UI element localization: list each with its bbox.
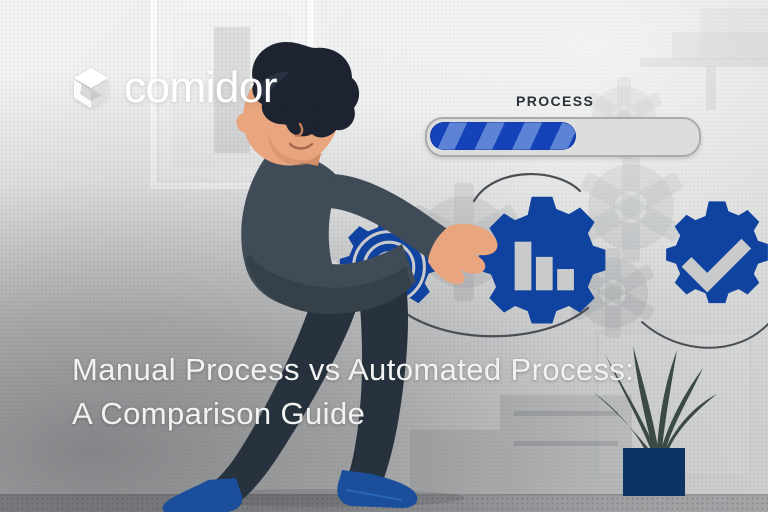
- back-shoe: [163, 478, 243, 512]
- checkmark-gear: [656, 196, 768, 318]
- brand-name: comidor: [124, 66, 277, 110]
- process-label: PROCESS: [516, 93, 594, 109]
- page-title-line1: Manual Process vs Automated Process:: [72, 352, 634, 387]
- page-title-line2: A Comparison Guide: [72, 392, 692, 436]
- progress-bar-fill: [430, 122, 576, 150]
- front-shoe: [337, 470, 417, 508]
- page-title: Manual Process vs Automated Process: A C…: [72, 348, 692, 436]
- brand-logo[interactable]: comidor: [72, 66, 277, 110]
- progress-bar-track[interactable]: [425, 117, 701, 157]
- eye-left: [282, 115, 290, 125]
- eye-right: [312, 117, 320, 127]
- comidor-cube-icon: [72, 67, 110, 109]
- banner-image: PROCESS comidor Manual Process vs Automa…: [0, 0, 768, 512]
- plant-pot: [623, 448, 685, 496]
